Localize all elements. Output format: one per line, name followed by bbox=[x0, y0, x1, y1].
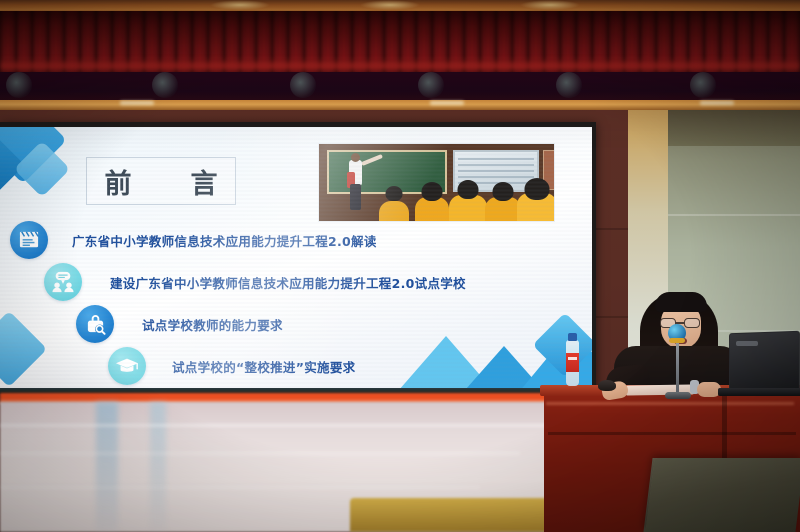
bottle-cap bbox=[568, 333, 577, 341]
laptop-logo bbox=[736, 341, 758, 346]
curtain-lamp bbox=[6, 72, 32, 98]
list-item[interactable]: 广东省中小学教师信息技术应用能力提升工程2.0解读 bbox=[0, 221, 592, 263]
bottle-label bbox=[566, 353, 579, 372]
list-item-label: 试点学校教师的能力要求 bbox=[142, 315, 283, 334]
briefcase-search-icon bbox=[76, 305, 114, 343]
floor-highlight bbox=[0, 452, 520, 455]
microphone-base bbox=[665, 392, 691, 399]
curtain-lamp bbox=[690, 72, 716, 98]
page-title: 前 言 bbox=[89, 162, 234, 201]
speaker-fringe bbox=[655, 292, 707, 312]
floor-reflection bbox=[150, 402, 166, 532]
curtain-lamp bbox=[290, 72, 316, 98]
curtain-lamp bbox=[556, 72, 582, 98]
curtain-lamp bbox=[418, 72, 444, 98]
trim-highlight bbox=[120, 101, 154, 105]
list-item-label: 建设广东省中小学教师信息技术应用能力提升工程2.0试点学校 bbox=[110, 273, 466, 292]
list-item[interactable]: 建设广东省中小学教师信息技术应用能力提升工程2.0试点学校 bbox=[0, 263, 592, 305]
photo-student bbox=[449, 195, 487, 222]
stage-curtain bbox=[0, 0, 800, 112]
ceiling-light bbox=[360, 0, 420, 10]
photo-student bbox=[517, 193, 555, 222]
curtain-lamp bbox=[152, 72, 178, 98]
glasses-icon bbox=[684, 318, 700, 328]
presentation-slide[interactable]: 前 言 bbox=[0, 127, 592, 390]
right-wall-seam bbox=[668, 214, 800, 216]
discussion-group-icon bbox=[44, 263, 82, 301]
trim-highlight bbox=[700, 101, 734, 105]
clapperboard-icon bbox=[10, 221, 48, 259]
photo-teacher-legs bbox=[350, 184, 361, 210]
trim-highlight bbox=[430, 101, 464, 105]
slide-title-box: 前 言 bbox=[86, 157, 236, 205]
laptop-base bbox=[718, 388, 800, 396]
podium-groove bbox=[548, 432, 796, 435]
graduation-cap-icon bbox=[108, 347, 146, 385]
classroom-photo bbox=[318, 143, 555, 222]
floor-highlight bbox=[0, 424, 560, 427]
photo-student bbox=[379, 201, 409, 222]
photo-student bbox=[485, 197, 521, 222]
floor-highlight bbox=[0, 486, 480, 489]
photo-student bbox=[415, 197, 449, 222]
microphone-ring bbox=[669, 338, 685, 343]
podium-highlight bbox=[546, 402, 794, 405]
ceiling-light bbox=[210, 0, 270, 10]
confidence-monitor bbox=[645, 458, 800, 532]
slide-decoration-bottom-right bbox=[382, 302, 592, 390]
list-item-label: 广东省中小学教师信息技术应用能力提升工程2.0解读 bbox=[72, 231, 377, 250]
list-item-label: 试点学校的“整校推进”实施要求 bbox=[172, 357, 355, 376]
microphone-stand bbox=[676, 338, 679, 396]
podium-object bbox=[598, 380, 616, 391]
ceiling-light bbox=[520, 0, 580, 10]
conference-hall-photo: 前 言 bbox=[0, 0, 800, 532]
photo-teacher-head bbox=[351, 153, 360, 162]
floor-reflection bbox=[96, 402, 118, 532]
